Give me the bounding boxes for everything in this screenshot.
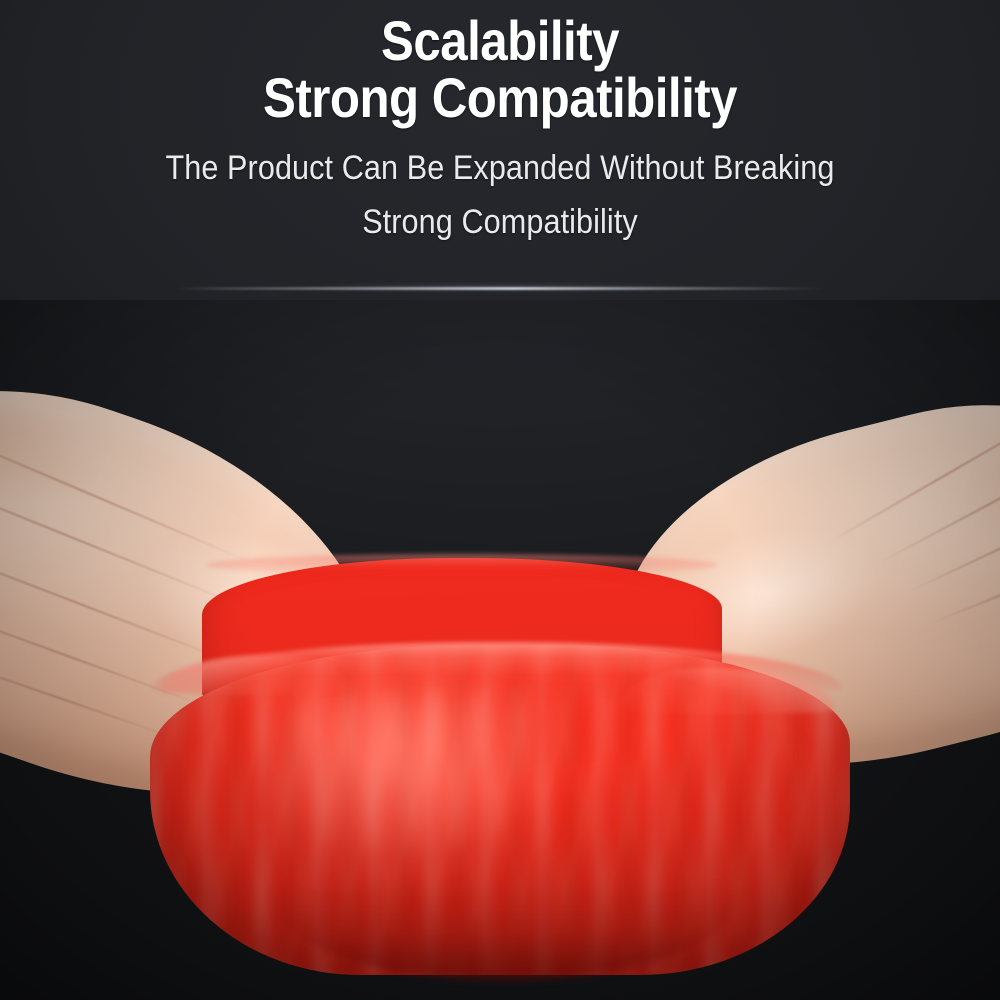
subtitle-line-2: Strong Compatibility xyxy=(50,195,950,249)
banner-text-block: Scalability Strong Compatibility The Pro… xyxy=(0,0,1000,300)
product-photo xyxy=(0,300,1000,1000)
page-title: Scalability Strong Compatibility xyxy=(60,0,940,126)
page-subtitle: The Product Can Be Expanded Without Brea… xyxy=(50,141,950,249)
headline-line-1: Scalability xyxy=(381,9,619,72)
headline-line-2: Strong Compatibility xyxy=(60,69,940,126)
bowl-inner-lip xyxy=(206,554,718,576)
subtitle-line-1: The Product Can Be Expanded Without Brea… xyxy=(50,141,950,195)
silicone-bowl xyxy=(150,550,850,980)
product-feature-banner: Scalability Strong Compatibility The Pro… xyxy=(0,0,1000,1000)
